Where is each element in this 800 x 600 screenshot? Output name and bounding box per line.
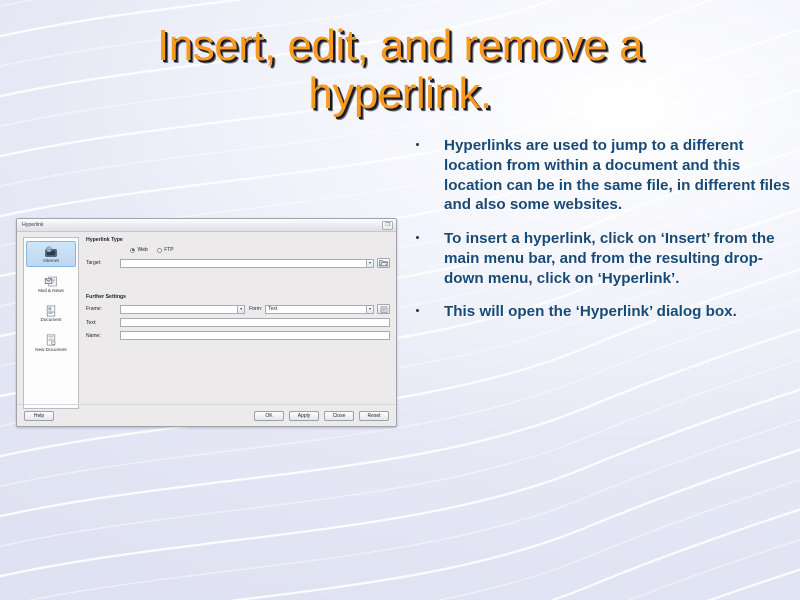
name-row: Name: bbox=[86, 331, 390, 340]
target-browse-button[interactable] bbox=[377, 258, 390, 268]
bullet-item-3: This will open the ‘Hyperlink’ dialog bo… bbox=[408, 302, 794, 322]
close-button[interactable]: Close bbox=[324, 411, 354, 421]
dialog-action-buttons: OK Apply Close Reset bbox=[254, 411, 389, 421]
hyperlink-dialog-screenshot: Hyperlink ❐ Internet bbox=[16, 218, 397, 427]
slide-canvas: Insert, edit, and remove a hyperlink. Hy… bbox=[0, 0, 800, 600]
sidebar-item-new-document[interactable]: New Document bbox=[26, 330, 76, 356]
bullet-item-2: To insert a hyperlink, click on ‘Insert’… bbox=[408, 229, 794, 288]
document-icon bbox=[44, 304, 59, 317]
slide-body-bullets: Hyperlinks are used to jump to a differe… bbox=[408, 136, 794, 336]
sidebar-item-document[interactable]: Document bbox=[26, 300, 76, 326]
form-label: Form: bbox=[245, 306, 265, 312]
hyperlink-type-group-label: Hyperlink Type bbox=[86, 237, 390, 243]
target-dropdown-arrow-icon[interactable]: ▾ bbox=[366, 259, 374, 268]
reset-button[interactable]: Reset bbox=[359, 411, 389, 421]
form-combo[interactable]: Text ▾ bbox=[265, 305, 374, 314]
target-combo[interactable]: ▾ bbox=[120, 259, 374, 268]
radio-ftp-label: FTP bbox=[164, 247, 173, 253]
sidebar-item-mail-news[interactable]: Mail & News bbox=[26, 271, 76, 297]
sidebar-item-internet-label: Internet bbox=[43, 259, 59, 264]
text-row: Text: bbox=[86, 318, 390, 327]
bullet-dot-icon bbox=[416, 143, 419, 146]
sidebar-item-new-document-label: New Document bbox=[35, 348, 66, 353]
further-settings-group-label: Further Settings bbox=[86, 294, 390, 300]
radio-ftp[interactable]: FTP bbox=[157, 247, 174, 253]
bullet-dot-icon bbox=[416, 309, 419, 312]
frame-dropdown-arrow-icon[interactable]: ▾ bbox=[237, 305, 245, 314]
dialog-category-list: Internet Mail & News bbox=[23, 237, 79, 409]
bullet-text-1: Hyperlinks are used to jump to a differe… bbox=[444, 137, 790, 213]
radio-web[interactable]: Web bbox=[130, 247, 148, 253]
dialog-body: Internet Mail & News bbox=[17, 232, 396, 410]
target-input[interactable] bbox=[120, 259, 366, 268]
events-button[interactable] bbox=[377, 304, 390, 314]
apply-button[interactable]: Apply bbox=[289, 411, 319, 421]
target-row: Target: ▾ bbox=[86, 258, 390, 268]
dialog-content-pane: Hyperlink Type Web FTP Target: bbox=[79, 237, 390, 410]
frame-form-row: Frame: ▾ Form: Text ▾ bbox=[86, 304, 390, 314]
bullet-dot-icon bbox=[416, 236, 419, 239]
sidebar-item-mail-news-label: Mail & News bbox=[38, 289, 64, 294]
internet-globe-icon bbox=[44, 245, 59, 258]
name-label: Name: bbox=[86, 333, 120, 339]
mail-news-icon bbox=[44, 275, 59, 288]
bullet-item-1: Hyperlinks are used to jump to a differe… bbox=[408, 136, 794, 215]
sidebar-item-internet[interactable]: Internet bbox=[26, 241, 76, 267]
help-button[interactable]: Help bbox=[24, 411, 54, 421]
frame-combo[interactable]: ▾ bbox=[120, 305, 245, 314]
hyperlink-type-radio-group: Web FTP bbox=[130, 247, 390, 253]
form-dropdown-arrow-icon[interactable]: ▾ bbox=[366, 305, 374, 314]
name-input[interactable] bbox=[120, 331, 390, 340]
dialog-button-bar: Help OK Apply Close Reset bbox=[17, 404, 396, 426]
new-document-icon bbox=[44, 334, 59, 347]
frame-label: Frame: bbox=[86, 306, 120, 312]
text-input[interactable] bbox=[120, 318, 390, 327]
form-select-value[interactable]: Text bbox=[265, 305, 366, 314]
radio-web-label: Web bbox=[138, 247, 148, 253]
dialog-title: Hyperlink bbox=[22, 222, 382, 228]
frame-input[interactable] bbox=[120, 305, 237, 314]
sidebar-item-document-label: Document bbox=[41, 318, 62, 323]
radio-ftp-indicator-icon bbox=[157, 248, 162, 253]
dialog-window-button[interactable]: ❐ bbox=[382, 221, 393, 230]
radio-web-indicator-icon bbox=[130, 248, 135, 253]
dialog-title-bar: Hyperlink ❐ bbox=[17, 219, 396, 232]
text-label: Text: bbox=[86, 320, 120, 326]
bullet-text-3: This will open the ‘Hyperlink’ dialog bo… bbox=[444, 303, 737, 320]
bullet-text-2: To insert a hyperlink, click on ‘Insert’… bbox=[444, 230, 775, 287]
target-label: Target: bbox=[86, 260, 120, 266]
ok-button[interactable]: OK bbox=[254, 411, 284, 421]
slide-title: Insert, edit, and remove a hyperlink. bbox=[60, 22, 740, 117]
